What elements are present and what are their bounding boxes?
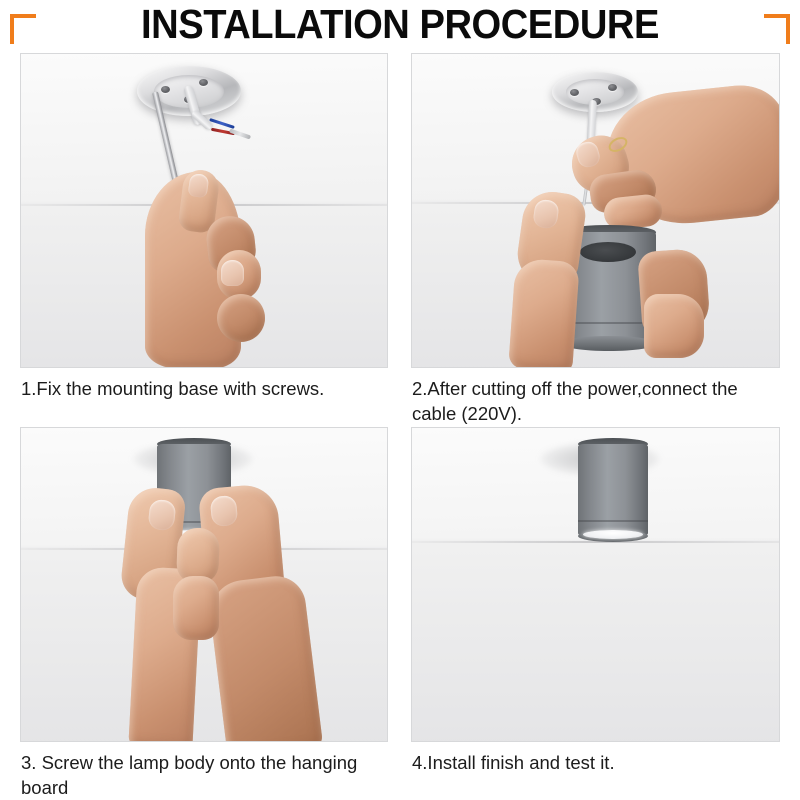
installed-lamp xyxy=(578,444,648,536)
step-1-photo-fix-mounting-base xyxy=(20,53,388,368)
step-card-3: 3. Screw the lamp body onto the hanging … xyxy=(20,427,388,800)
step-3-photo-screw-lamp-body xyxy=(20,427,388,742)
step-4-photo-install-finish xyxy=(411,427,780,742)
lamp-inner-cavity xyxy=(580,242,636,262)
page-title: INSTALLATION PROCEDURE xyxy=(28,2,772,46)
hand-left-fingers-2 xyxy=(644,294,704,358)
fingers-overlap-2 xyxy=(173,576,219,640)
lower-wall-surface xyxy=(411,543,780,742)
step-2-photo-connect-cable xyxy=(411,53,780,368)
page-header: INSTALLATION PROCEDURE xyxy=(0,0,800,52)
hand-right-nail xyxy=(210,495,239,527)
step-3-caption: 3. Screw the lamp body onto the hanging … xyxy=(20,742,388,800)
step-4-caption: 4.Install finish and test it. xyxy=(411,742,780,775)
hand-left-palm xyxy=(508,258,580,368)
step-card-2: 2.After cutting off the power,connect th… xyxy=(411,53,780,426)
finger-nail xyxy=(221,260,244,286)
step-1-caption: 1.Fix the mounting base with screws. xyxy=(20,368,388,401)
step-2-caption: 2.After cutting off the power,connect th… xyxy=(411,368,780,426)
ring-finger-knuckle xyxy=(217,294,265,342)
step-card-4: 4.Install finish and test it. xyxy=(411,427,780,775)
step-card-1: 1.Fix the mounting base with screws. xyxy=(20,53,388,401)
